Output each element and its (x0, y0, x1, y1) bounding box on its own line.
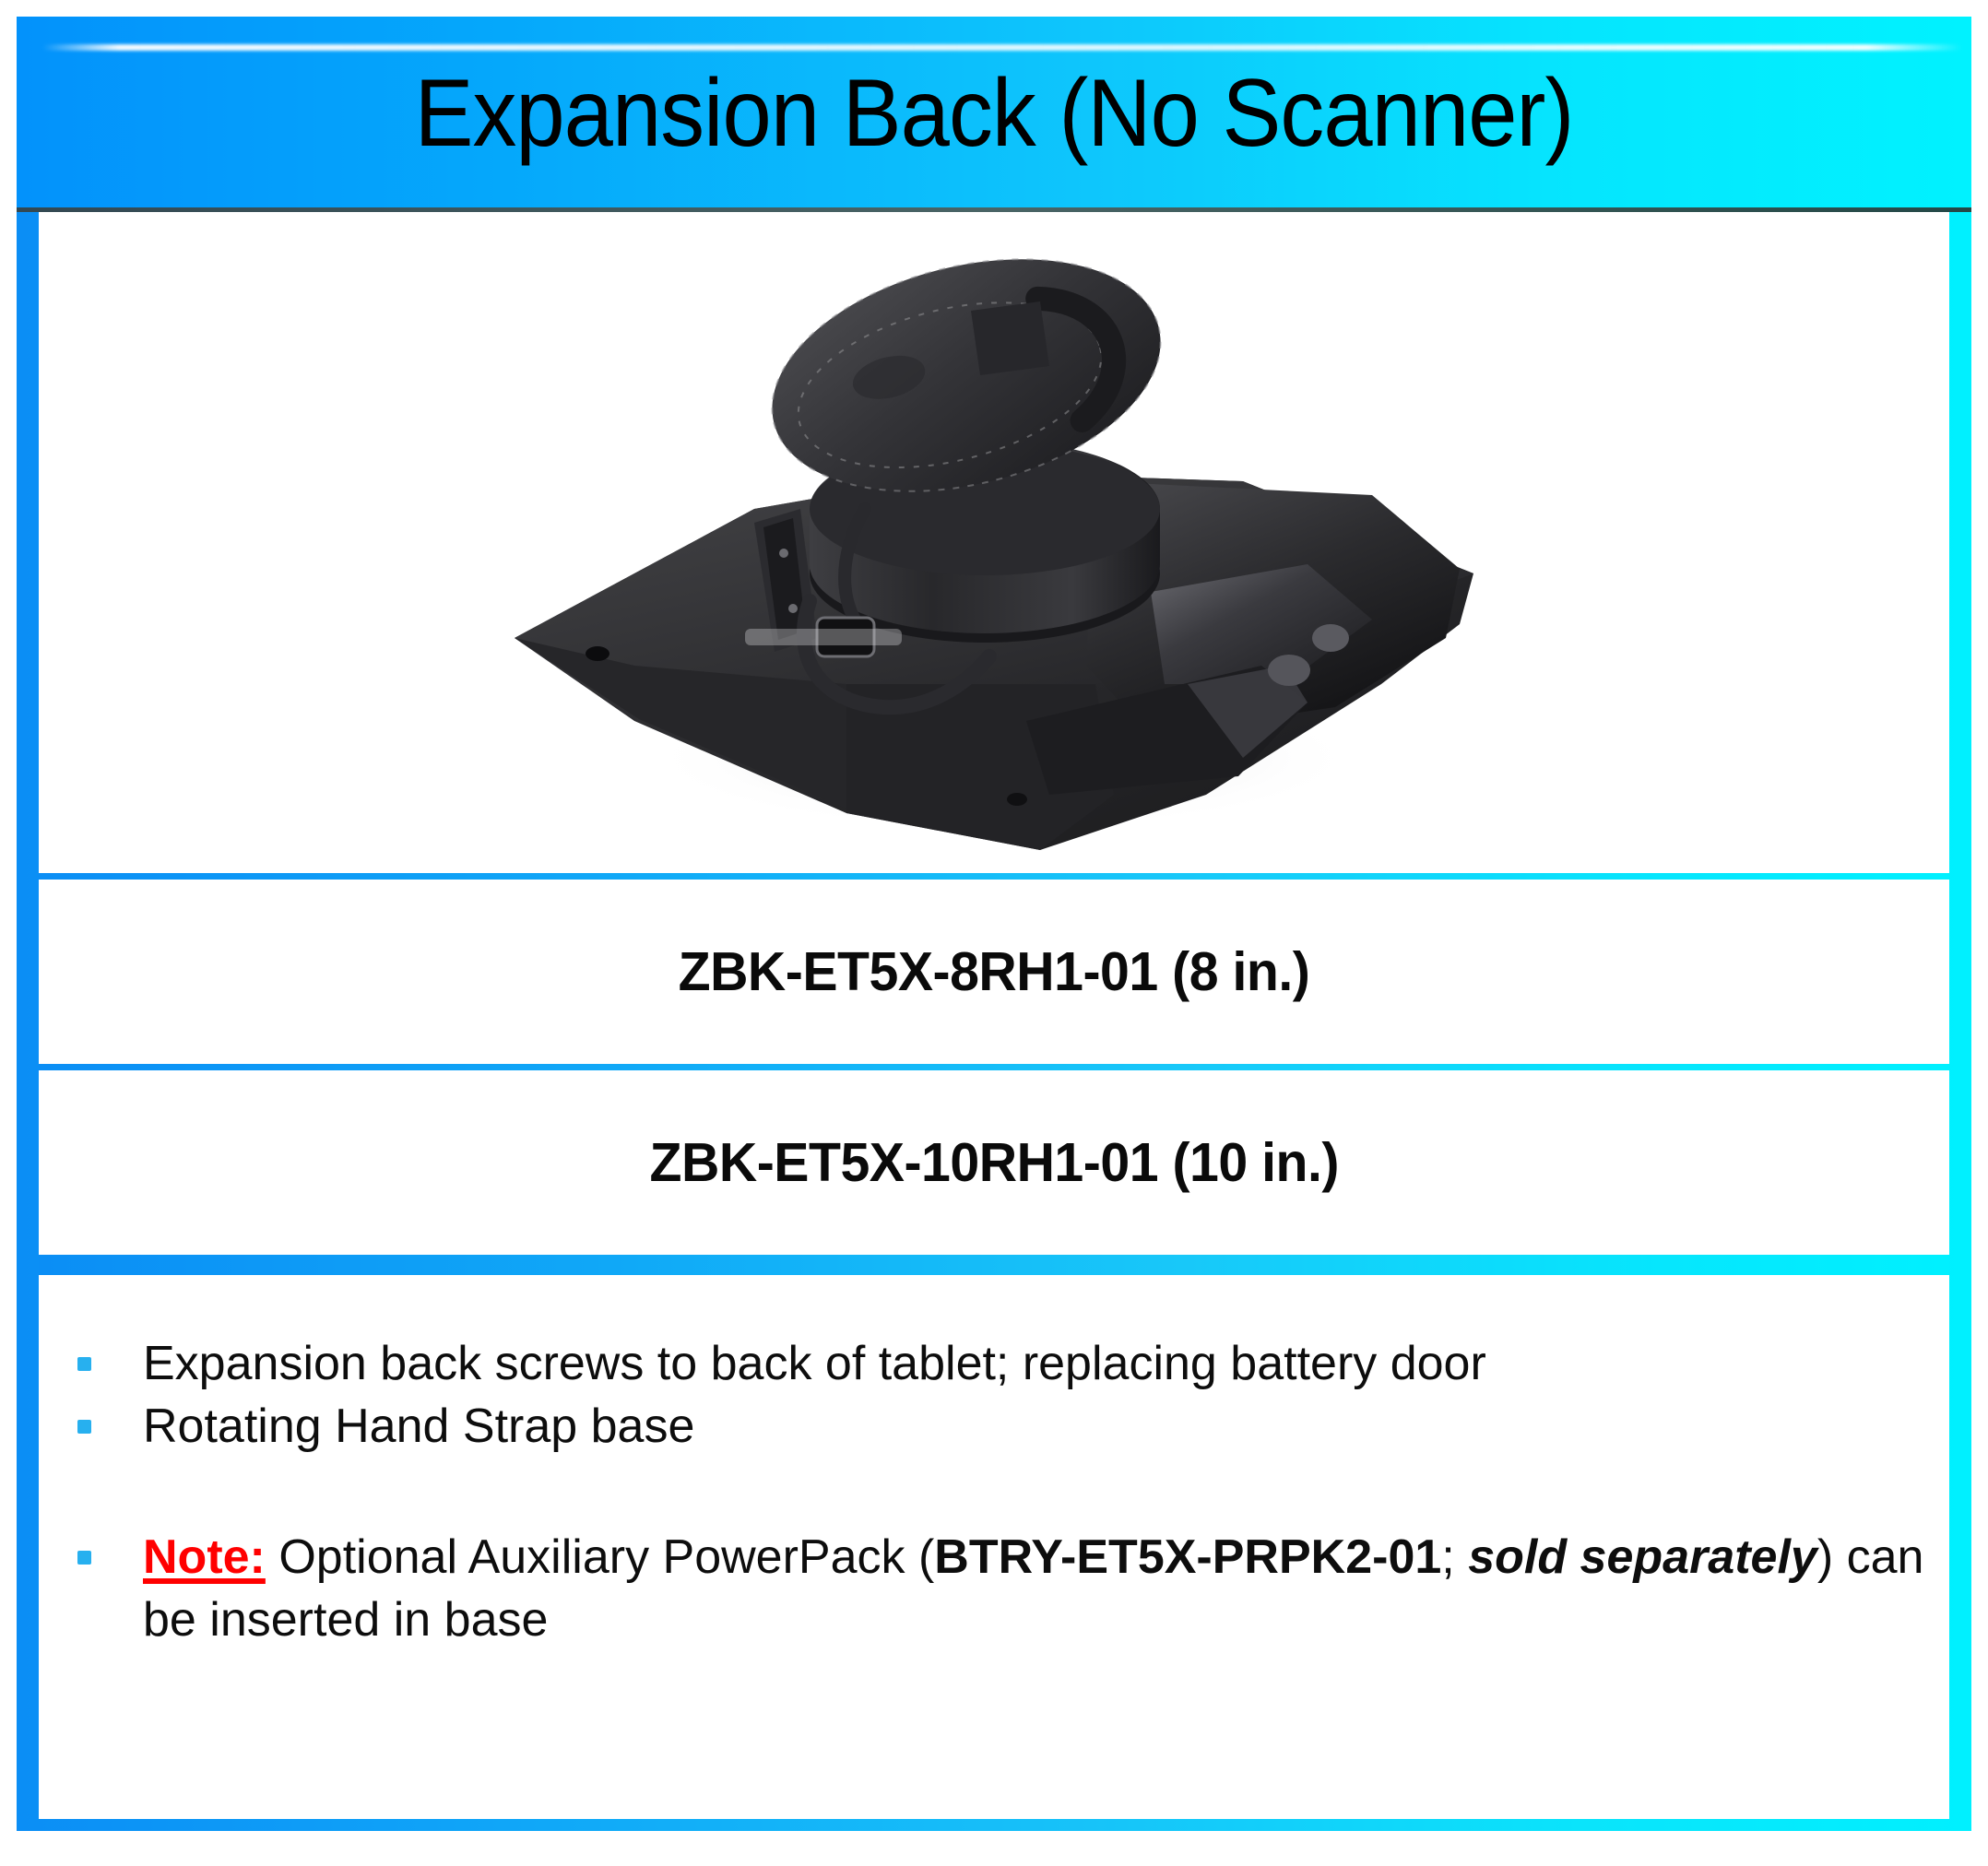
part-number-10in: ZBK-ET5X-10RH1-01 (10 in.) (649, 1131, 1338, 1194)
bullet-expansion-back: Expansion back screws to back of tablet;… (39, 1332, 1949, 1395)
bullet-text: Expansion back screws to back of tablet;… (143, 1337, 1486, 1390)
text-run: Rotating Hand Strap base (143, 1399, 694, 1453)
title-bar-highlight-line (42, 44, 1962, 51)
bullet-text: Rotating Hand Strap base (143, 1399, 694, 1453)
feature-bullets-cell: Expansion back screws to back of tablet;… (39, 1275, 1949, 1819)
slide-title-bar: Expansion Back (No Scanner) (17, 17, 1971, 212)
bold-run: BTRY-ET5X-PRPK2-01 (934, 1530, 1441, 1584)
part-number-8in: ZBK-ET5X-8RH1-01 (8 in.) (679, 940, 1310, 1003)
text-run: Optional Auxiliary PowerPack ( (266, 1530, 934, 1584)
feature-bullet-list: Expansion back screws to back of tablet;… (39, 1332, 1949, 1651)
bullet-text: Note: Optional Auxiliary PowerPack (BTRY… (143, 1530, 1923, 1647)
divider-part1-part2 (39, 1064, 1949, 1070)
text-run: ; (1441, 1530, 1468, 1584)
bullet-rotating-hand-strap: Rotating Hand Strap base (39, 1395, 1949, 1458)
bullet-square-icon (77, 1357, 91, 1371)
divider-parts-bullets (39, 1255, 1949, 1275)
content-panel: ZBK-ET5X-8RH1-01 (8 in.) ZBK-ET5X-10RH1-… (39, 212, 1949, 1811)
product-image-cell (39, 212, 1949, 873)
part-number-row-1: ZBK-ET5X-8RH1-01 (8 in.) (39, 880, 1949, 1064)
bullet-note-powerpack: Note: Optional Auxiliary PowerPack (BTRY… (39, 1526, 1949, 1651)
expansion-back-illustration (450, 212, 1538, 868)
page-title: Expansion Back (No Scanner) (95, 63, 1893, 164)
bold-italic-run: sold separately (1468, 1530, 1817, 1584)
note-label: Note: (143, 1530, 266, 1584)
bullet-square-icon (77, 1420, 91, 1434)
bullet-square-icon (77, 1551, 91, 1565)
text-run: Expansion back screws to back of tablet;… (143, 1337, 1486, 1390)
product-photo (39, 212, 1949, 873)
part-number-row-2: ZBK-ET5X-10RH1-01 (10 in.) (39, 1070, 1949, 1255)
divider-photo-part1 (39, 873, 1949, 880)
